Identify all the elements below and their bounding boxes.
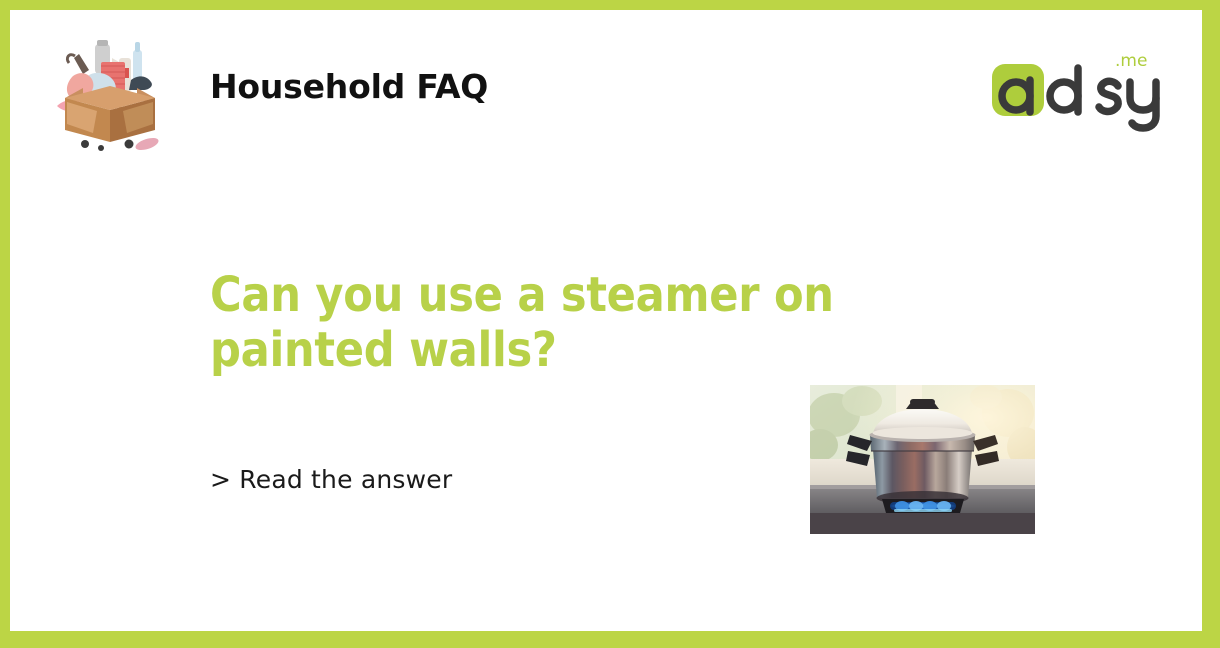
card-header: Household FAQ <box>10 10 1202 170</box>
household-box-illustration <box>45 32 175 157</box>
faq-promo-card: Household FAQ <box>0 0 1220 648</box>
steamer-pot-on-gas-stove-photo <box>810 385 1035 534</box>
logo-tld-text: .me <box>1115 51 1147 71</box>
card-inner-surface: Household FAQ <box>10 10 1202 631</box>
read-the-answer-link[interactable]: > Read the answer <box>210 465 452 494</box>
adsy-logo[interactable]: .me <box>990 50 1165 132</box>
faq-headline: Can you use a steamer on painted walls? <box>210 268 970 378</box>
page-title: Household FAQ <box>210 67 488 106</box>
